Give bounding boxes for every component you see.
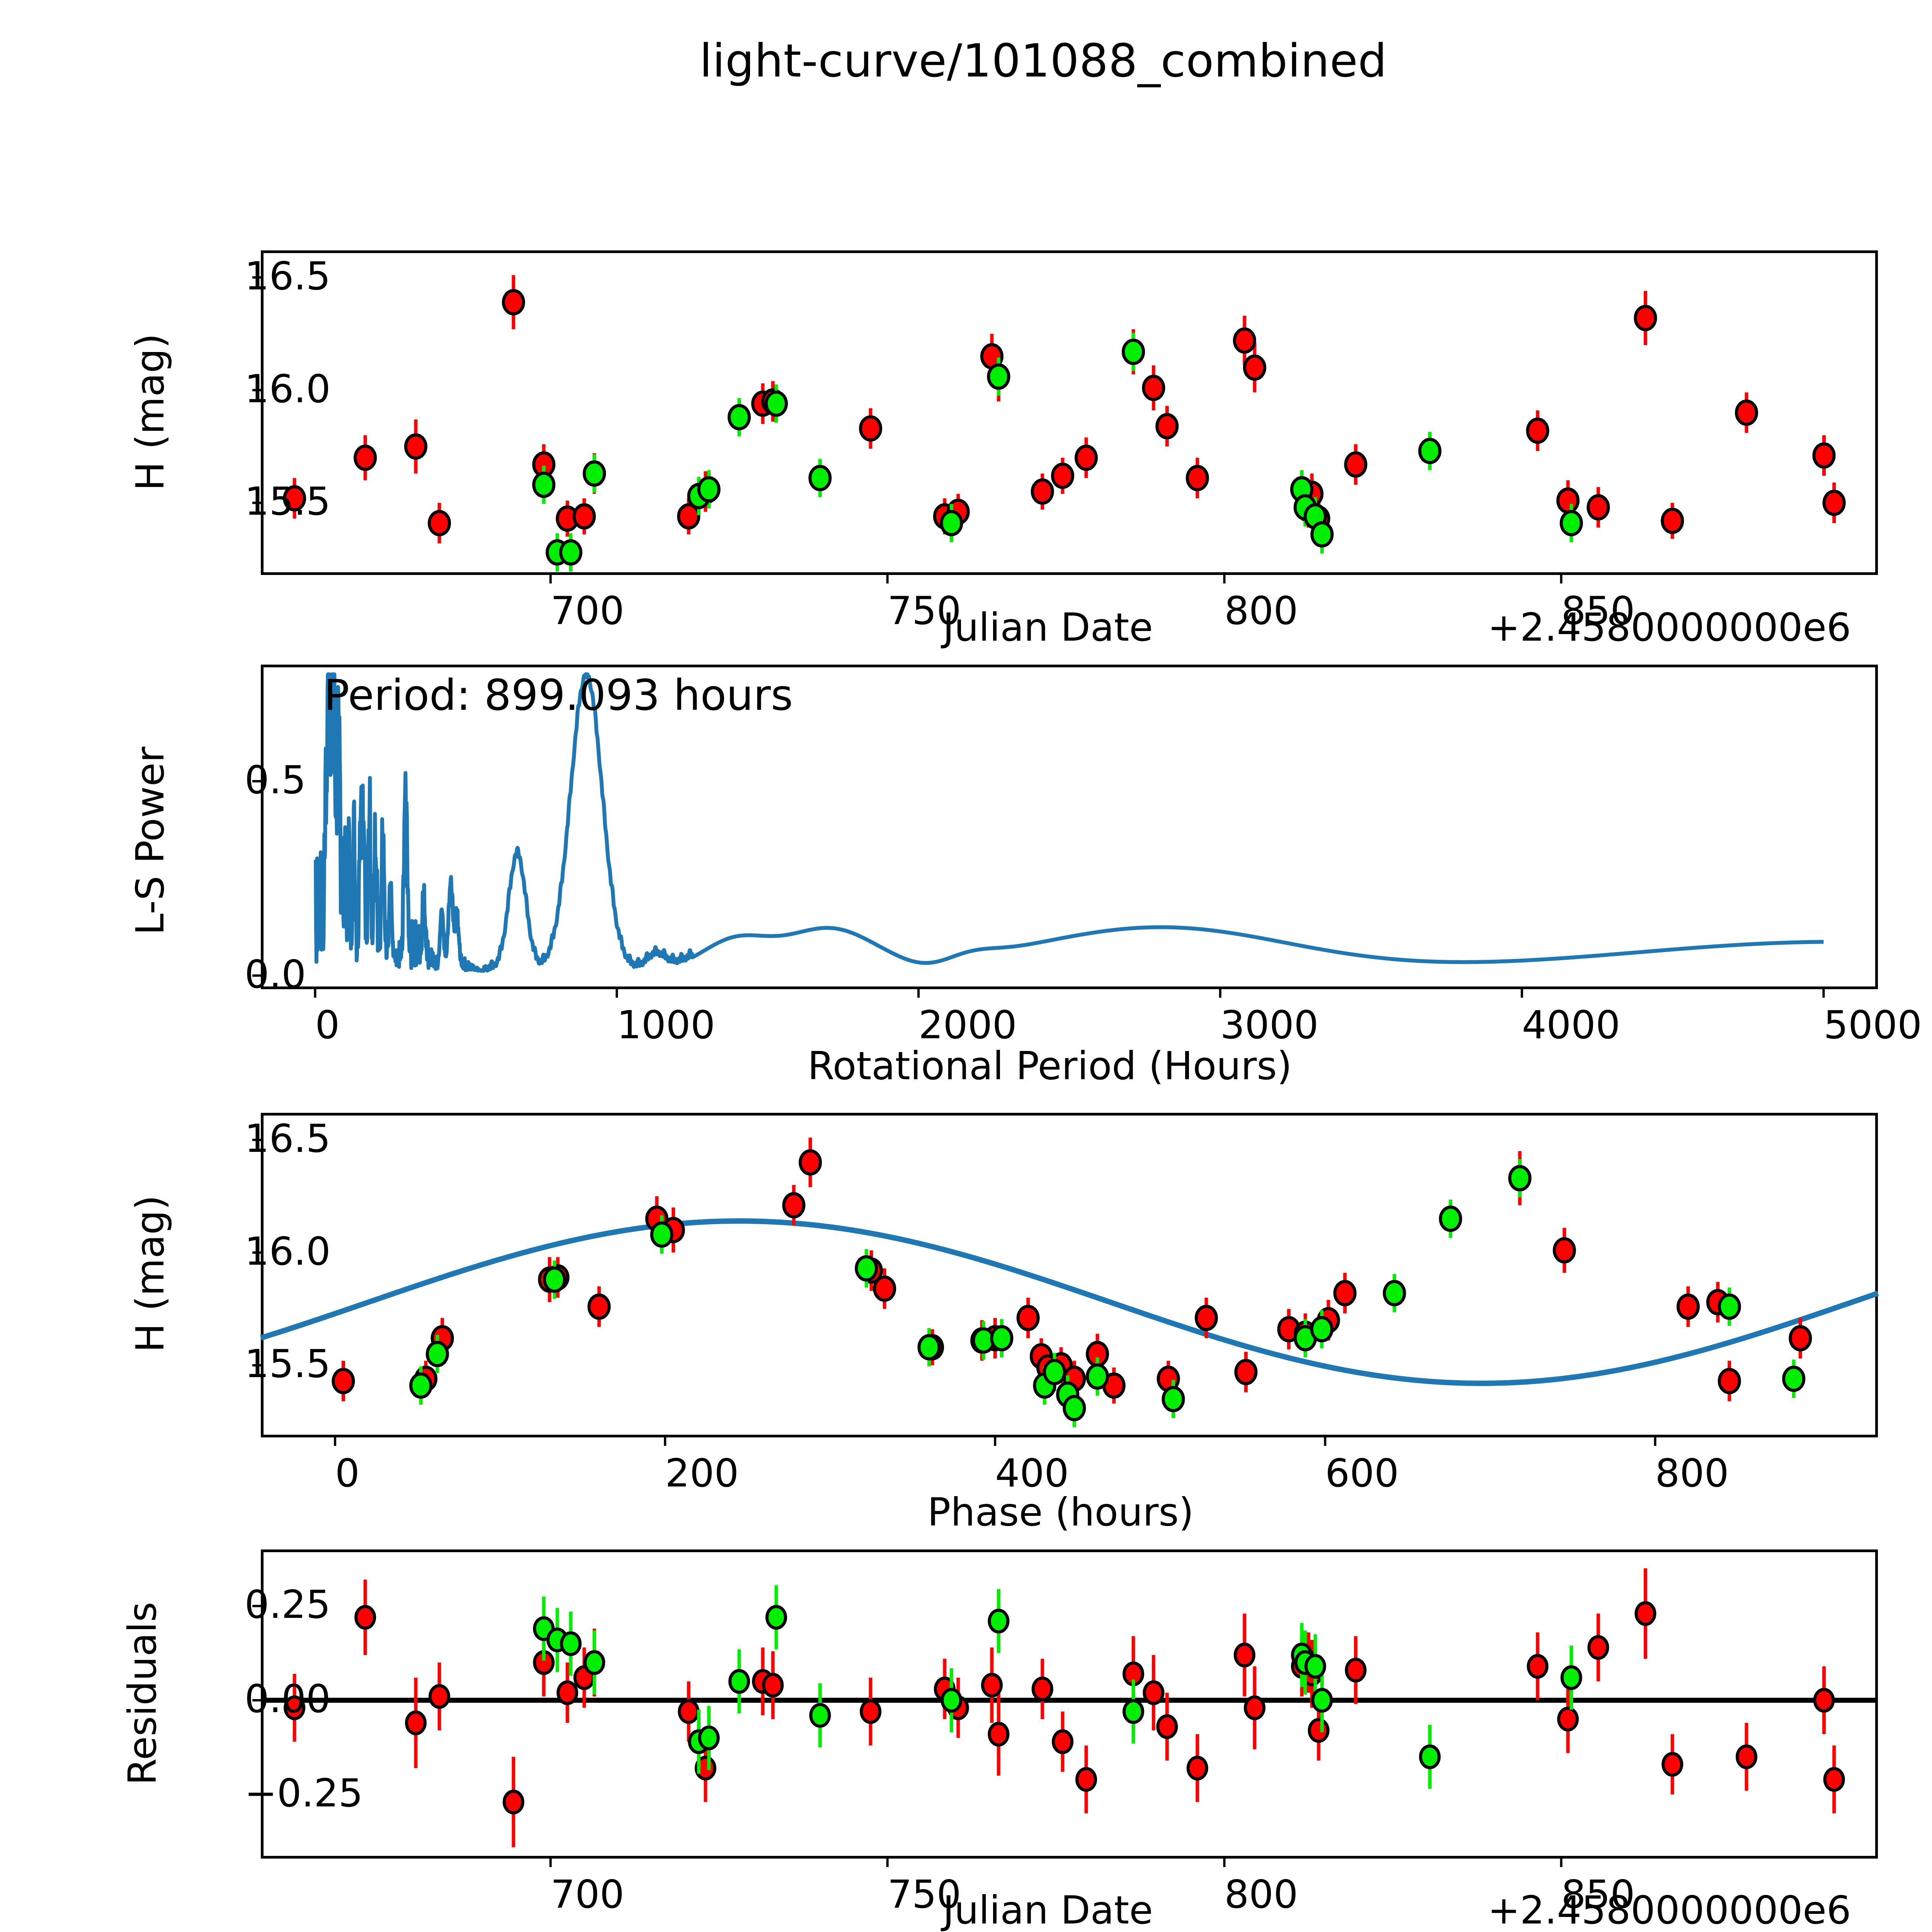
periodogram-xtick-5000: 5000 xyxy=(1823,1002,1922,1048)
residuals-x-offset: +2.4580000000e6 xyxy=(1488,1888,1851,1932)
residuals-ytick-2: −0.25 xyxy=(245,1770,363,1816)
phasefold-xtick-400: 400 xyxy=(995,1451,1069,1496)
lightcurve-xtick-750: 750 xyxy=(888,588,961,633)
periodogram-ytick-0: 0.5 xyxy=(245,757,306,803)
residuals-xlabel: Julian Date xyxy=(943,1888,1153,1932)
lightcurve-xtick-700: 700 xyxy=(551,588,624,633)
figure-root: light-curve/101088_combined H (mag) Juli… xyxy=(0,0,1932,1932)
residuals-red-points xyxy=(285,1568,1843,1847)
periodogram-xtick-4000: 4000 xyxy=(1522,1002,1621,1048)
lightcurve-xtick-800: 800 xyxy=(1225,588,1298,633)
periodogram-xtick-0: 0 xyxy=(315,1002,340,1048)
residuals-xtick-750: 750 xyxy=(888,1872,961,1917)
phasefold-xtick-800: 800 xyxy=(1655,1451,1729,1496)
periodogram-xtick-1000: 1000 xyxy=(617,1002,715,1048)
residuals-xtick-800: 800 xyxy=(1225,1872,1298,1917)
residuals-ylabel: Residuals xyxy=(120,1602,165,1785)
residuals-xtick-700: 700 xyxy=(551,1872,624,1917)
lightcurve-ytick-0: 16.5 xyxy=(245,253,331,299)
periodogram-xtick-2000: 2000 xyxy=(918,1002,1017,1048)
lightcurve-xtick-850: 850 xyxy=(1561,588,1635,633)
phasefold-ytick-0: 16.5 xyxy=(245,1116,331,1161)
phasefold-xtick-600: 600 xyxy=(1325,1451,1399,1496)
residuals-ytick-1: 0.00 xyxy=(245,1676,331,1721)
residuals-ytick-0: 0.25 xyxy=(245,1582,331,1627)
residuals-green-points xyxy=(534,1585,1580,1789)
phasefold-ytick-1: 16.0 xyxy=(245,1229,331,1274)
lightcurve-ytick-1: 16.0 xyxy=(245,366,331,412)
phasefold-ytick-2: 15.5 xyxy=(245,1341,331,1386)
phasefold-xtick-200: 200 xyxy=(665,1451,739,1496)
lightcurve-ytick-2: 15.5 xyxy=(245,479,331,524)
periodogram-ytick-1: 0.0 xyxy=(245,952,306,997)
periodogram-xtick-3000: 3000 xyxy=(1220,1002,1319,1048)
residuals-xtick-850: 850 xyxy=(1561,1872,1635,1917)
phasefold-xtick-0: 0 xyxy=(335,1451,360,1496)
